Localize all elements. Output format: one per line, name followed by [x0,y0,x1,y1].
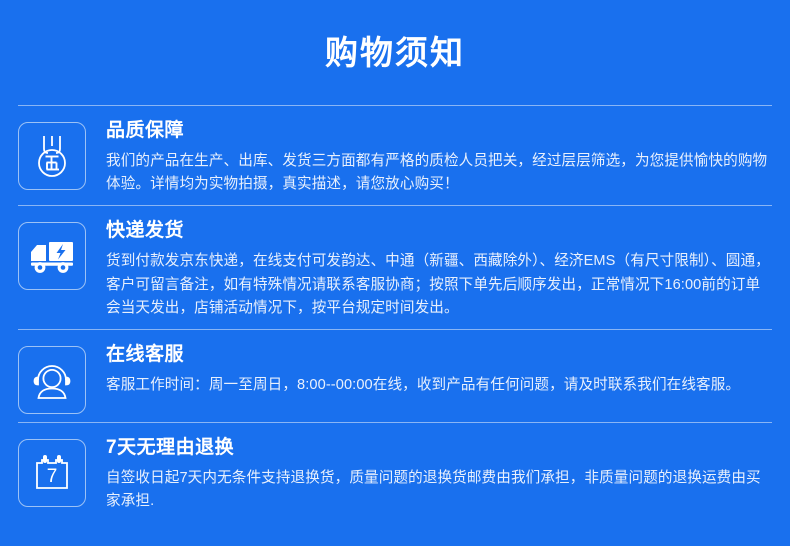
divider-top [18,105,772,106]
notice-section-quality: 品质保障 我们的产品在生产、出库、发货三方面都有严格的质检人员把关，经过层层筛选… [0,106,790,205]
headset-support-icon [18,346,86,414]
notice-title-return: 7天无理由退换 [106,437,772,460]
notice-title-support: 在线客服 [106,344,772,367]
notice-text-support: 客服工作时间：周一至周日，8:00--00:00在线，收到产品有任何问题，请及时… [106,374,772,398]
notice-text-quality: 我们的产品在生产、出库、发货三方面都有严格的质检人员把关，经过层层筛选，为您提供… [106,150,772,197]
divider-3 [18,422,772,423]
notice-body-quality: 品质保障 我们的产品在生产、出库、发货三方面都有严格的质检人员把关，经过层层筛选… [106,118,772,197]
notice-section-return: 7 7天无理由退换 自签收日起7天内无条件支持退换货，质量问题的退换货邮费由我们… [0,423,790,522]
notice-section-support: 在线客服 客服工作时间：周一至周日，8:00--00:00在线，收到产品有任何问… [0,330,790,422]
calendar-number: 7 [47,466,58,487]
notice-text-shipping: 货到付款发京东快递，在线支付可发韵达、中通（新疆、西藏除外）、经济EMS（有尺寸… [106,250,772,321]
notice-title-quality: 品质保障 [106,120,772,143]
notice-title-shipping: 快递发货 [106,220,772,243]
notice-body-return: 7天无理由退换 自签收日起7天内无条件支持退换货，质量问题的退换货邮费由我们承担… [106,435,772,514]
calendar-7-icon: 7 [18,439,86,507]
medal-zheng-icon [18,122,86,190]
divider-2 [18,329,772,330]
shopping-notice-banner: 购物须知 品质保障 我们的产品在生产、 [0,0,790,546]
notice-body-shipping: 快递发货 货到付款发京东快递，在线支付可发韵达、中通（新疆、西藏除外）、经济EM… [106,218,772,321]
notice-section-shipping: 快递发货 货到付款发京东快递，在线支付可发韵达、中通（新疆、西藏除外）、经济EM… [0,206,790,329]
notice-body-support: 在线客服 客服工作时间：周一至周日，8:00--00:00在线，收到产品有任何问… [106,342,772,397]
notice-text-return: 自签收日起7天内无条件支持退换货，质量问题的退换货邮费由我们承担，非质量问题的退… [106,467,772,514]
delivery-truck-icon [18,222,86,290]
page-title-area: 购物须知 [0,0,790,105]
divider-1 [18,205,772,206]
page-title: 购物须知 [325,36,465,69]
